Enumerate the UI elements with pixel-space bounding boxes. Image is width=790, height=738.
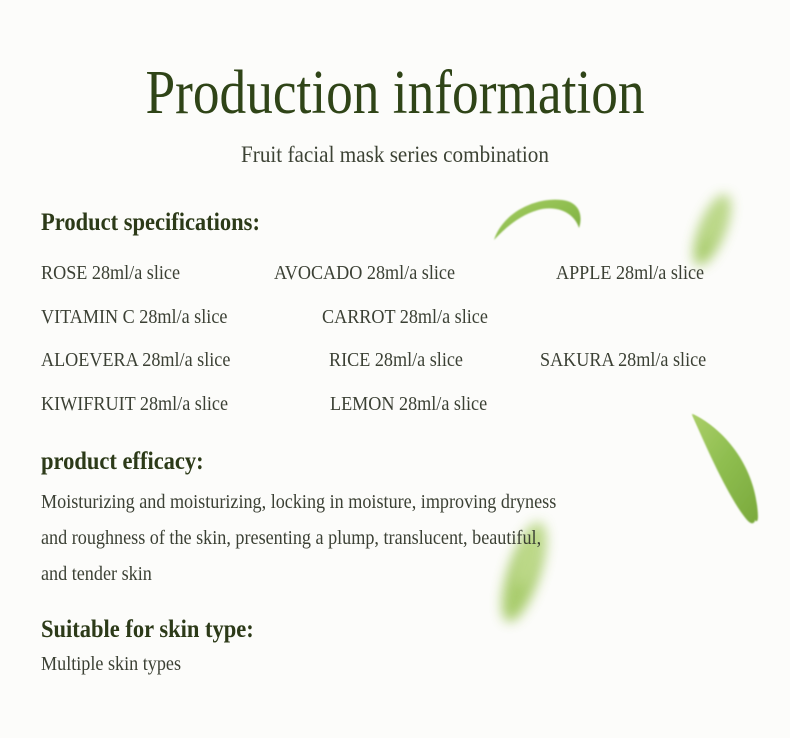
spec-item-aloevera: ALOEVERA 28ml/a slice <box>41 348 230 374</box>
efficacy-line: Moisturizing and moisturizing, locking i… <box>41 485 729 521</box>
spec-item-kiwifruit: KIWIFRUIT 28ml/a slice <box>41 392 228 418</box>
spec-item-rice: RICE 28ml/a slice <box>329 348 463 374</box>
spec-item-sakura: SAKURA 28ml/a slice <box>540 348 706 374</box>
content-layer: Production information Fruit facial mask… <box>0 0 790 738</box>
spec-row: ROSE 28ml/a slice AVOCADO 28ml/a slice A… <box>0 261 790 287</box>
efficacy-paragraph: Moisturizing and moisturizing, locking i… <box>41 485 781 593</box>
spec-row: VITAMIN C 28ml/a slice CARROT 28ml/a sli… <box>0 305 790 331</box>
page-title: Production information <box>55 62 734 124</box>
section-heading-specifications: Product specifications: <box>41 209 260 237</box>
section-heading-skin-type: Suitable for skin type: <box>41 616 254 644</box>
page-subtitle: Fruit facial mask series combination <box>32 142 759 167</box>
efficacy-line: and tender skin <box>41 557 729 593</box>
skin-type-value: Multiple skin types <box>41 654 181 676</box>
spec-item-avocado: AVOCADO 28ml/a slice <box>274 261 455 287</box>
spec-row: ALOEVERA 28ml/a slice RICE 28ml/a slice … <box>0 348 790 374</box>
spec-item-rose: ROSE 28ml/a slice <box>41 261 180 287</box>
efficacy-line: and roughness of the skin, presenting a … <box>41 521 729 557</box>
product-information-page: Production information Fruit facial mask… <box>0 0 790 738</box>
section-heading-efficacy: product efficacy: <box>41 448 204 476</box>
spec-item-apple: APPLE 28ml/a slice <box>556 261 704 287</box>
spec-item-lemon: LEMON 28ml/a slice <box>330 392 487 418</box>
spec-row: KIWIFRUIT 28ml/a slice LEMON 28ml/a slic… <box>0 392 790 418</box>
spec-item-carrot: CARROT 28ml/a slice <box>322 305 488 331</box>
spec-item-vitamin-c: VITAMIN C 28ml/a slice <box>41 305 227 331</box>
